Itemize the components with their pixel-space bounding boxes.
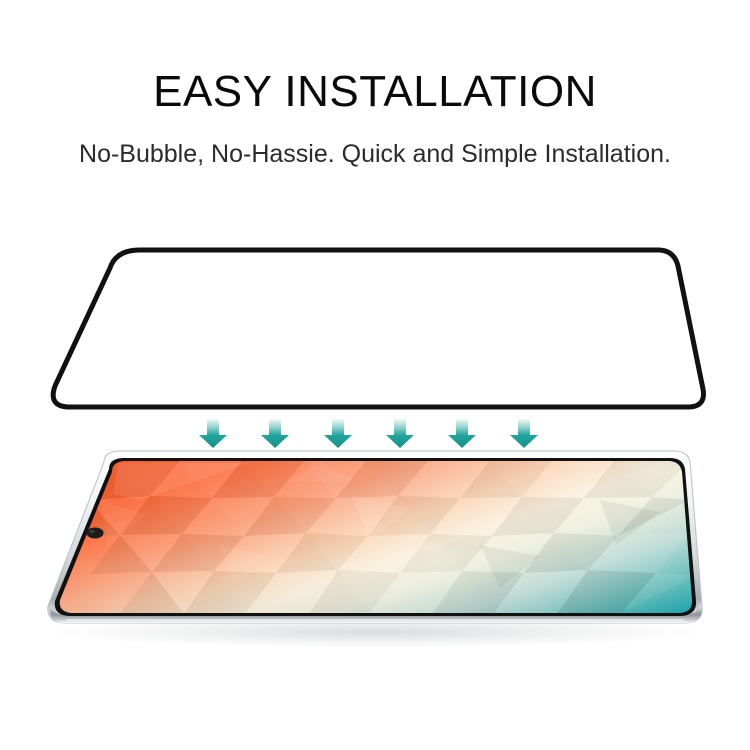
screen-protector-glass: [53, 250, 703, 407]
arrow-down-icon: [448, 418, 476, 448]
arrow-down-icon: [510, 418, 538, 448]
arrow-down-icon: [324, 418, 352, 448]
arrow-down-icon: [386, 418, 414, 448]
arrow-down-icon: [261, 418, 289, 448]
installation-arrows-group: [199, 418, 538, 448]
arrow-down-icon: [199, 418, 227, 448]
product-marketing-banner: EASY INSTALLATION No-Bubble, No-Hassie. …: [0, 0, 750, 750]
smartphone: [40, 450, 710, 630]
punch-hole-camera-glint: [89, 530, 94, 533]
installation-illustration: [0, 0, 750, 750]
punch-hole-front-camera-icon: [87, 528, 104, 539]
